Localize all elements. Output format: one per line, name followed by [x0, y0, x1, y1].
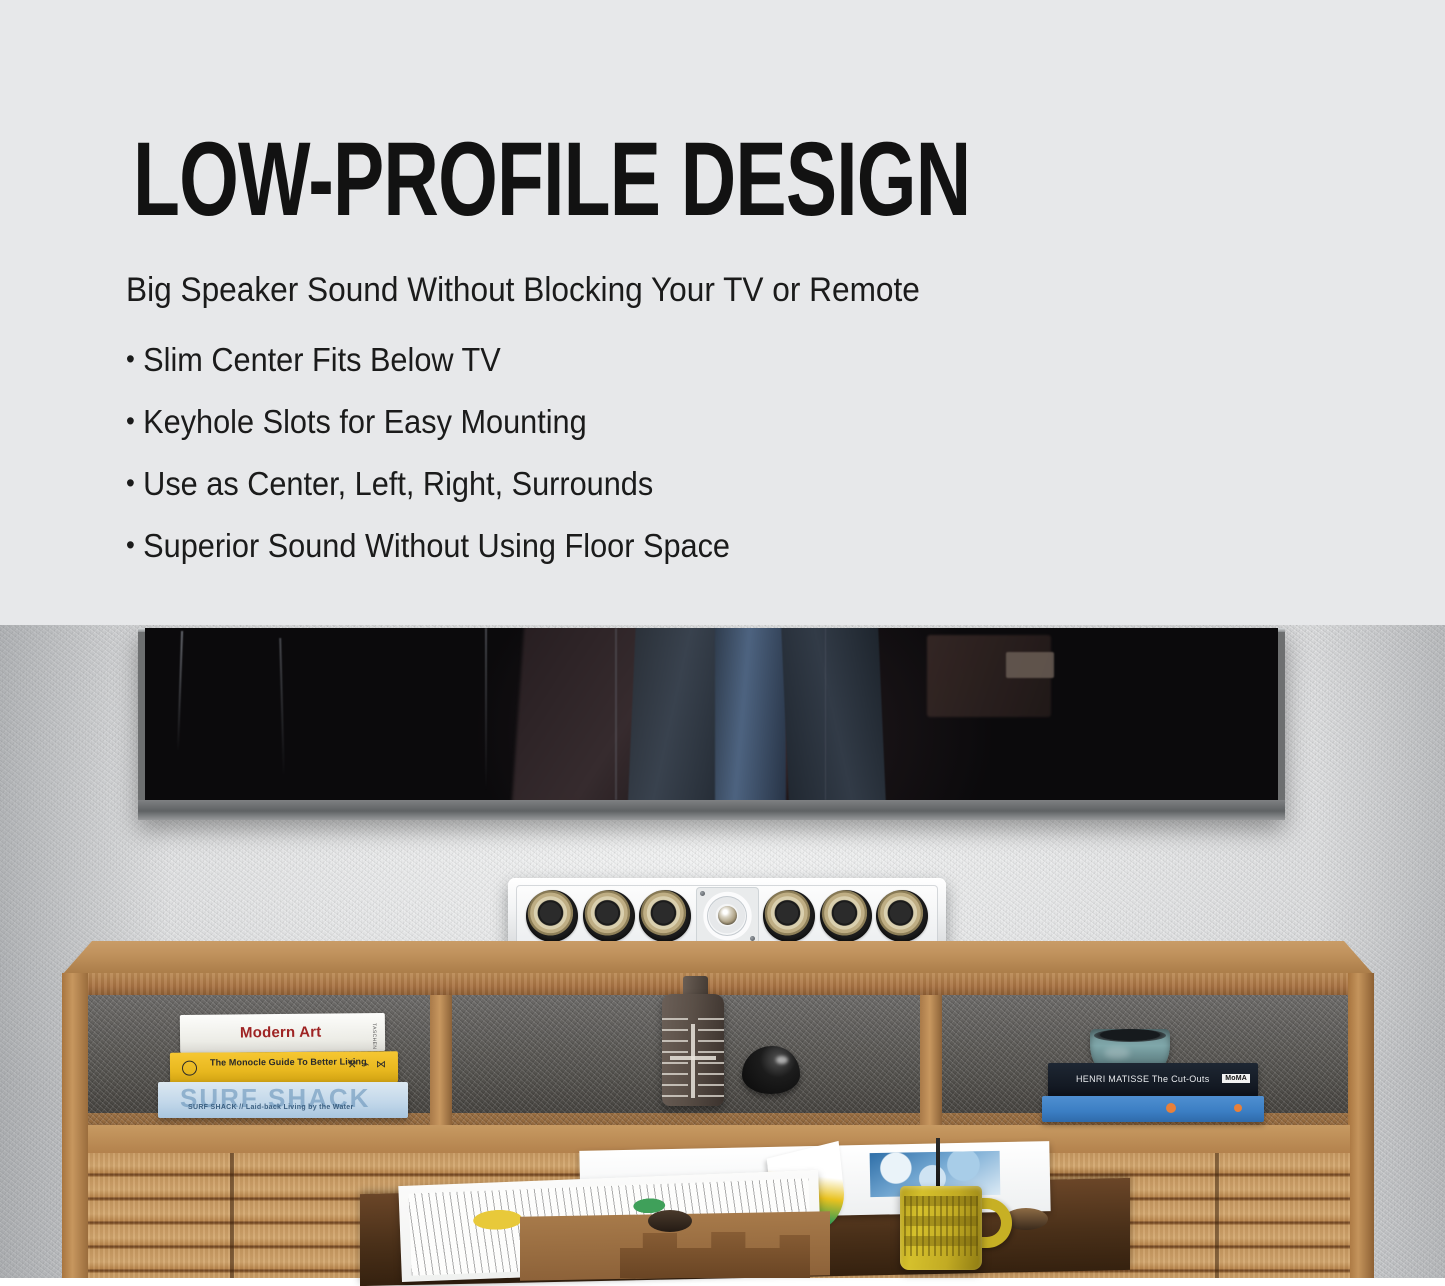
shelf-divider-left	[430, 995, 452, 1135]
patterned-ceramic-vase	[662, 994, 724, 1106]
screen-figure-leg-right	[781, 628, 887, 800]
console-leg-right	[1348, 973, 1374, 1278]
right-book-stack: HENRI MATISSE The Cut-Outs MoMA	[1038, 1035, 1264, 1131]
book-title: Modern Art	[240, 1024, 322, 1042]
subheadline: Big Speaker Sound Without Blocking Your …	[126, 268, 920, 312]
screen-line-5	[825, 628, 827, 800]
bullet-text: Slim Center Fits Below TV	[143, 341, 501, 378]
book-blue-cover	[1042, 1096, 1264, 1122]
vase-cross-horizontal	[670, 1056, 716, 1060]
speaker-driver	[583, 890, 635, 942]
book-title: The Monocle Guide To Better Living	[210, 1056, 367, 1068]
screen-object-right-detail	[1006, 652, 1054, 678]
bullet-icon: •	[126, 468, 135, 498]
drawer-seam-right	[1215, 1153, 1219, 1278]
screen-figure-jeans	[715, 628, 786, 800]
drawer-seam-left	[230, 1153, 234, 1278]
page-title: LOW-PROFILE DESIGN	[133, 128, 970, 233]
tweeter-dome	[718, 906, 737, 925]
list-item: •Use as Center, Left, Right, Surrounds	[126, 454, 730, 516]
list-item: •Slim Center Fits Below TV	[126, 330, 730, 392]
game-piece-knob	[648, 1210, 692, 1232]
book-henri-matisse: HENRI MATISSE The Cut-Outs MoMA	[1048, 1063, 1258, 1097]
bullet-text: Use as Center, Left, Right, Surrounds	[143, 465, 653, 502]
book-spine-glyphs: ⚒ ⌁ ⋈	[347, 1059, 388, 1070]
tv-screen	[145, 628, 1278, 800]
speaker-driver	[639, 890, 691, 942]
book-dot-icon	[1234, 1104, 1242, 1112]
speaker-driver	[820, 890, 872, 942]
console-top-surface	[62, 941, 1374, 975]
screen-line-1	[177, 631, 183, 751]
tweeter-ring	[707, 896, 747, 936]
book-title: HENRI MATISSE The Cut-Outs	[1076, 1074, 1210, 1084]
list-item: •Superior Sound Without Using Floor Spac…	[126, 516, 730, 578]
bullet-icon: •	[126, 406, 135, 436]
bullet-icon: •	[126, 344, 135, 374]
screen-line-4	[615, 628, 617, 800]
wooden-game-pieces	[620, 1228, 810, 1278]
book-monocle-guide: The Monocle Guide To Better Living ⚒ ⌁ ⋈	[170, 1051, 398, 1084]
speaker-baffle	[516, 885, 938, 946]
book-dot-icon	[1166, 1103, 1176, 1113]
speaker-driver	[763, 890, 815, 942]
bullet-icon: •	[126, 530, 135, 560]
wall-mounted-tv	[138, 628, 1285, 820]
feature-bullet-list: •Slim Center Fits Below TV •Keyhole Slot…	[126, 330, 775, 578]
tweeter-assembly	[696, 887, 759, 945]
screen-line-2	[279, 638, 285, 776]
bullet-text: Superior Sound Without Using Floor Space	[143, 527, 730, 564]
console-leg-left	[62, 973, 88, 1278]
left-book-stack: Modern Art TASCHEN The Monocle Guide To …	[158, 1010, 408, 1128]
black-teardrop-stone	[742, 1046, 800, 1094]
marketing-copy-panel: LOW-PROFILE DESIGN Big Speaker Sound Wit…	[0, 0, 1445, 625]
book-publisher: MoMA	[1222, 1074, 1250, 1083]
book-surf-shack: SURF SHACK SURF SHACK // Laid-back Livin…	[158, 1082, 408, 1118]
console-top-edge	[62, 973, 1374, 995]
book-modern-art: Modern Art TASCHEN	[180, 1013, 385, 1053]
book-publisher: TASCHEN	[371, 1023, 377, 1049]
list-item: •Keyhole Slots for Easy Mounting	[126, 392, 730, 454]
speaker-driver	[526, 890, 578, 942]
ceramic-mug	[900, 1186, 982, 1270]
book-subtitle: SURF SHACK // Laid-back Living by the Wa…	[188, 1104, 354, 1111]
vase-cross-vertical	[691, 1024, 695, 1098]
monocle-logo-icon	[182, 1061, 197, 1076]
shelf-divider-right	[920, 995, 942, 1135]
screen-line-3	[485, 628, 487, 791]
tv-bottom-bezel	[138, 800, 1285, 820]
speaker-driver	[876, 890, 928, 942]
bullet-text: Keyhole Slots for Easy Mounting	[143, 403, 587, 440]
